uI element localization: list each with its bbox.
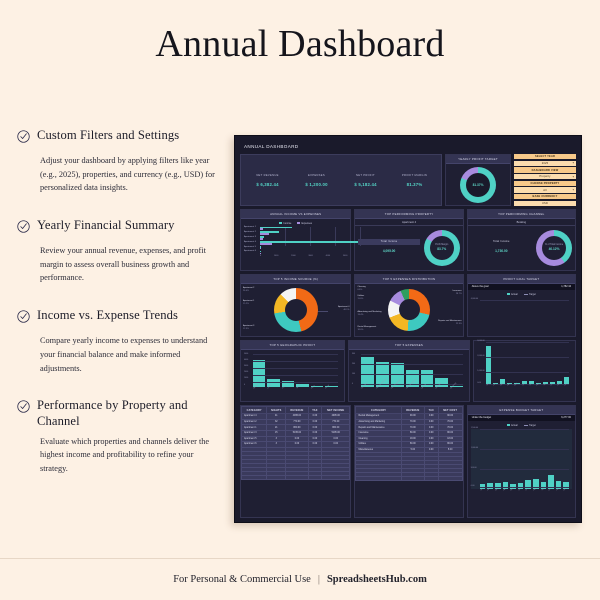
footer-separator: |: [318, 574, 320, 585]
kpi-label: PROFIT MARGIN: [390, 174, 439, 177]
ytick: 4,000.00: [471, 298, 478, 300]
profit-goal-xlabels: Jan Feb Mar Apr May Jun Jul Aug Sep Oct …: [477, 385, 572, 387]
feature-body: Review your annual revenue, expenses, an…: [40, 244, 220, 285]
feature-item: Custom Filters and Settings Adjust your …: [16, 128, 228, 195]
footer: For Personal & Commercial Use | Spreadsh…: [0, 558, 600, 600]
ytick: 500.00: [471, 467, 477, 469]
ytick: 0.00: [471, 485, 475, 487]
table-row[interactable]: [242, 475, 350, 479]
col-header: NET COST: [438, 407, 462, 414]
property-table[interactable]: CATEGORY NIGHTS REVENUE TAX NET INCOME A…: [241, 406, 350, 480]
yearly-profit-target-donut: 81.37%: [460, 167, 496, 203]
xtick: 0: [260, 255, 261, 257]
profit-goal-status: Above the goal: [472, 285, 489, 288]
top5-expenses-xlabels: Insurance Repairs and Maintenance Rental…: [352, 388, 466, 390]
yearly-profit-target-value: 81.37%: [473, 183, 484, 187]
col-header: NIGHTS: [267, 407, 286, 414]
chevron-down-icon: ▾: [573, 162, 574, 165]
legend-actual: Actual: [511, 293, 518, 296]
kpi-label: NET PROFIT: [341, 174, 390, 177]
expense-budget-panel: EXPENSE BUDGET TARGET Under the budget 6…: [467, 405, 576, 518]
feature-title: Income vs. Expense Trends: [37, 308, 178, 324]
ytick: 5000: [244, 353, 248, 355]
xtick: 4000: [326, 255, 330, 257]
top-property-stat-value: 4,095.00: [358, 245, 419, 257]
profit-goal-legend: Actual Target: [471, 293, 572, 296]
table-row[interactable]: [356, 477, 462, 481]
income-source-title: TOP 5 INCOME SOURCE (%): [241, 275, 350, 284]
feature-body: Compare yearly income to expenses to und…: [40, 334, 220, 375]
feature-body: Evaluate which properties and channels d…: [40, 435, 220, 476]
expense-table[interactable]: CATEGORY REVENUE TAX NET COST Rental Man…: [355, 406, 462, 481]
xtick: 1000: [274, 255, 278, 257]
expense-label: Rental Management 18.0%: [357, 326, 376, 332]
geographic-profit-title: TOP 5 GEOGRAPHIC PROFIT: [241, 341, 344, 350]
feature-title: Performance by Property and Channel: [37, 398, 228, 429]
expense-distribution-title: TOP 5 EXPENSES DISTRIBUTION: [355, 275, 462, 284]
check-circle-icon: [16, 129, 31, 149]
ytick: 2,000.00: [477, 355, 484, 357]
income-vs-expenses-xaxis: 0 1000 2000 3000 4000 5000: [244, 255, 347, 257]
yearly-profit-target-title: YEARLY PROFIT TARGET: [446, 155, 510, 164]
top-property-name: Apartment 4: [355, 219, 462, 226]
feature-title: Custom Filters and Settings: [37, 128, 179, 144]
income-source-label: Apartment 4 46.1%: [338, 306, 349, 312]
ytick: 0: [244, 384, 245, 386]
filter-value: All: [543, 189, 546, 192]
check-circle-icon: [16, 309, 31, 329]
filter-base-currency[interactable]: USD: [514, 201, 576, 206]
filter-dashboard-view[interactable]: Property ▾: [514, 174, 576, 179]
xtick: 2000: [291, 255, 295, 257]
top-channel-donut: % of Total Income 40.12%: [536, 230, 572, 266]
ytick: 0.00: [477, 382, 481, 384]
legend-target: Target: [529, 293, 536, 296]
filter-label-choose-property: CHOOSE PROPERTY: [514, 181, 576, 186]
dashboard-title: ANNUAL DASHBOARD: [240, 141, 576, 151]
legend-income: Income: [284, 222, 292, 225]
kpi-value: $ 6,382.44: [243, 182, 292, 187]
expense-budget-amount: 6,277.00: [561, 416, 571, 419]
income-source-panel: TOP 5 INCOME SOURCE (%) Apartment 2 26.4…: [240, 274, 351, 337]
geographic-profit-panel: TOP 5 GEOGRAPHIC PROFIT 5000 4000 3000 2…: [240, 340, 345, 402]
kpi-label: EXPENSES: [292, 174, 341, 177]
feature-list: Custom Filters and Settings Adjust your …: [16, 128, 228, 499]
top-property-donut: Profit Margin 83.7%: [424, 230, 460, 266]
top-property-title: TOP PERFORMING PROPERTY: [355, 210, 462, 219]
table-header-row: CATEGORY REVENUE TAX NET COST: [356, 407, 462, 414]
top-channel-donut-value: 40.12%: [549, 247, 560, 251]
profit-goal-panel: PROFIT GOAL TARGET Above the goal 1,782.…: [467, 274, 576, 337]
expense-budget-status: Under the budget: [472, 416, 491, 419]
kpi-net-revenue: NET REVENUE $ 6,382.44: [243, 174, 292, 187]
income-source-label: Apartment 2 26.4%: [243, 287, 254, 293]
kpi-label: NET REVENUE: [243, 174, 292, 177]
geographic-profit-xlabels: Madrid Lisbon Porto Seville Paris Rome: [244, 388, 341, 390]
ytick: 300: [352, 353, 355, 355]
income-vs-expenses-chart: Apartment 1 Apartment 2 Apartment 3 Apar…: [244, 227, 347, 255]
expense-label: Utilities 11.0%: [357, 295, 364, 301]
xtick: 5000: [343, 255, 347, 257]
top-property-donut-value: 83.7%: [437, 247, 446, 251]
yearly-profit-target-panel: YEARLY PROFIT TARGET 81.37%: [445, 154, 511, 206]
feature-item: Income vs. Expense Trends Compare yearly…: [16, 308, 228, 375]
col-header: TAX: [308, 407, 321, 414]
col-header: NET INCOME: [322, 407, 350, 414]
legend-target: Target: [529, 424, 536, 427]
income-vs-expenses-legend: Income Expenses: [244, 222, 347, 225]
filter-label-dashboard-view: DASHBOARD VIEW: [514, 167, 576, 172]
xtick: 3000: [308, 255, 312, 257]
legend-actual: Actual: [511, 424, 518, 427]
col-header: REVENUE: [401, 407, 424, 414]
ytick: 1,000.00: [471, 447, 478, 449]
filter-label-select-year: SELECT YEAR: [514, 154, 576, 159]
ytick: 1000: [244, 377, 248, 379]
chevron-down-icon: ▾: [573, 189, 574, 192]
kpi-value: $ 1,200.00: [292, 182, 341, 187]
ytick: 1,000.00: [477, 370, 484, 372]
legend-expenses: Expenses: [301, 222, 312, 225]
ytick: 200: [352, 363, 355, 365]
property-table-panel[interactable]: CATEGORY NIGHTS REVENUE TAX NET INCOME A…: [240, 405, 351, 518]
footer-brand: SpreadsheetsHub.com: [327, 574, 427, 585]
expense-label: Cleaning 6.6%: [357, 286, 365, 292]
ytick: 1,500.00: [471, 427, 478, 429]
expense-table-panel[interactable]: CATEGORY REVENUE TAX NET COST Rental Man…: [354, 405, 463, 518]
top-channel-title: TOP PERFORMING CHANNEL: [468, 210, 575, 219]
ytick: 2000: [244, 371, 248, 373]
expense-budget-chart: 1,500.00 1,000.00 500.00 0.00: [471, 429, 572, 489]
cat-label: Apartment 2: [244, 231, 256, 233]
top-channel-stat-value: 1,730.00: [471, 245, 532, 257]
expense-label: Advertising and Marketing 13.4%: [357, 311, 381, 317]
ytick: 4000: [244, 359, 248, 361]
expense-budget-xlabels: Jan Feb Mar Apr May Jun Jul Aug Sep Oct …: [471, 490, 572, 492]
footer-usage-text: For Personal & Commercial Use: [173, 574, 311, 585]
feature-title: Yearly Financial Summary: [37, 218, 175, 234]
table-header-row: CATEGORY NIGHTS REVENUE TAX NET INCOME: [242, 407, 350, 414]
profit-goal-chart-panel: 3,000.00 2,000.00 1,000.00 0.00: [473, 340, 576, 402]
filter-value: USD: [542, 202, 548, 205]
kpi-strip: NET REVENUE $ 6,382.44 EXPENSES $ 1,200.…: [240, 154, 442, 206]
col-header: CATEGORY: [242, 407, 267, 414]
top-performing-property-panel: TOP PERFORMING PROPERTY Apartment 4 Tota…: [354, 209, 463, 271]
income-source-label: Apartment 3 12.3%: [243, 325, 254, 331]
expense-budget-title: EXPENSE BUDGET TARGET: [468, 406, 575, 415]
income-vs-expenses-title: ANNUAL INCOME VS EXPENSES: [241, 210, 350, 219]
cat-label: Apartment 3: [244, 236, 256, 238]
profit-goal-chart: 3,000.00 2,000.00 1,000.00 0.00: [477, 344, 572, 384]
kpi-value: 81.37%: [390, 182, 439, 187]
col-header: CATEGORY: [356, 407, 401, 414]
profit-goal-amount: 1,782.44: [561, 285, 571, 288]
kpi-value: $ 5,182.44: [341, 182, 390, 187]
filter-select-year[interactable]: 2025 ▾: [514, 161, 576, 166]
profit-goal-title: PROFIT GOAL TARGET: [468, 275, 575, 284]
cat-label: Apartment 4: [244, 241, 256, 243]
ytick: 0: [352, 383, 353, 385]
col-header: TAX: [424, 407, 438, 414]
expense-distribution-donut: [388, 289, 430, 331]
col-header: REVENUE: [286, 407, 309, 414]
top5-expenses-panel: TOP 5 EXPENSES 300 200 100 0: [348, 340, 470, 402]
check-circle-icon: [16, 219, 31, 239]
top-performing-channel-panel: TOP PERFORMING CHANNEL Booking Total Inc…: [467, 209, 576, 271]
cat-label: Apartment 1: [244, 226, 256, 228]
income-source-donut: [274, 288, 318, 332]
filter-value: 2025: [542, 162, 549, 165]
kpi-expenses: EXPENSES $ 1,200.00: [292, 174, 341, 187]
page-title: Annual Dashboard: [0, 0, 600, 66]
feature-item: Yearly Financial Summary Review your ann…: [16, 218, 228, 285]
filter-label-base-currency: BASE CURRENCY: [514, 194, 576, 199]
income-source-label: Apartment 1 15.2%: [243, 300, 254, 306]
expense-budget-legend: Actual Target: [471, 424, 572, 427]
feature-item: Performance by Property and Channel Eval…: [16, 398, 228, 476]
kpi-net-profit: NET PROFIT $ 5,182.44: [341, 174, 390, 187]
ytick: 3000: [244, 365, 248, 367]
cat-label: Apartment 5: [244, 246, 256, 248]
kpi-profit-margin: PROFIT MARGIN 81.37%: [390, 174, 439, 187]
top-channel-name: Booking: [468, 219, 575, 226]
feature-body: Adjust your dashboard by applying filter…: [40, 154, 220, 195]
check-circle-icon: [16, 399, 31, 419]
filters-panel[interactable]: SELECT YEAR 2025 ▾ DASHBOARD VIEW Proper…: [514, 154, 576, 206]
expense-distribution-panel: TOP 5 EXPENSES DISTRIBUTION Cleaning 6.6…: [354, 274, 463, 337]
ytick: 100: [352, 373, 355, 375]
filter-value: Property: [539, 175, 550, 178]
expense-label: Insurance 28.7%: [453, 290, 462, 296]
income-vs-expenses-panel: ANNUAL INCOME VS EXPENSES Income Expense…: [240, 209, 351, 271]
filter-choose-property[interactable]: All ▾: [514, 187, 576, 192]
cat-label: Apartment 6: [244, 250, 256, 252]
chevron-down-icon: ▾: [573, 175, 574, 178]
expense-label: Repairs and Maintenance 22.3%: [438, 320, 462, 326]
top5-expenses-title: TOP 5 EXPENSES: [349, 341, 469, 350]
dashboard-preview[interactable]: ANNUAL DASHBOARD NET REVENUE $ 6,382.44 …: [234, 135, 582, 523]
ytick: 3,000.00: [477, 340, 484, 342]
